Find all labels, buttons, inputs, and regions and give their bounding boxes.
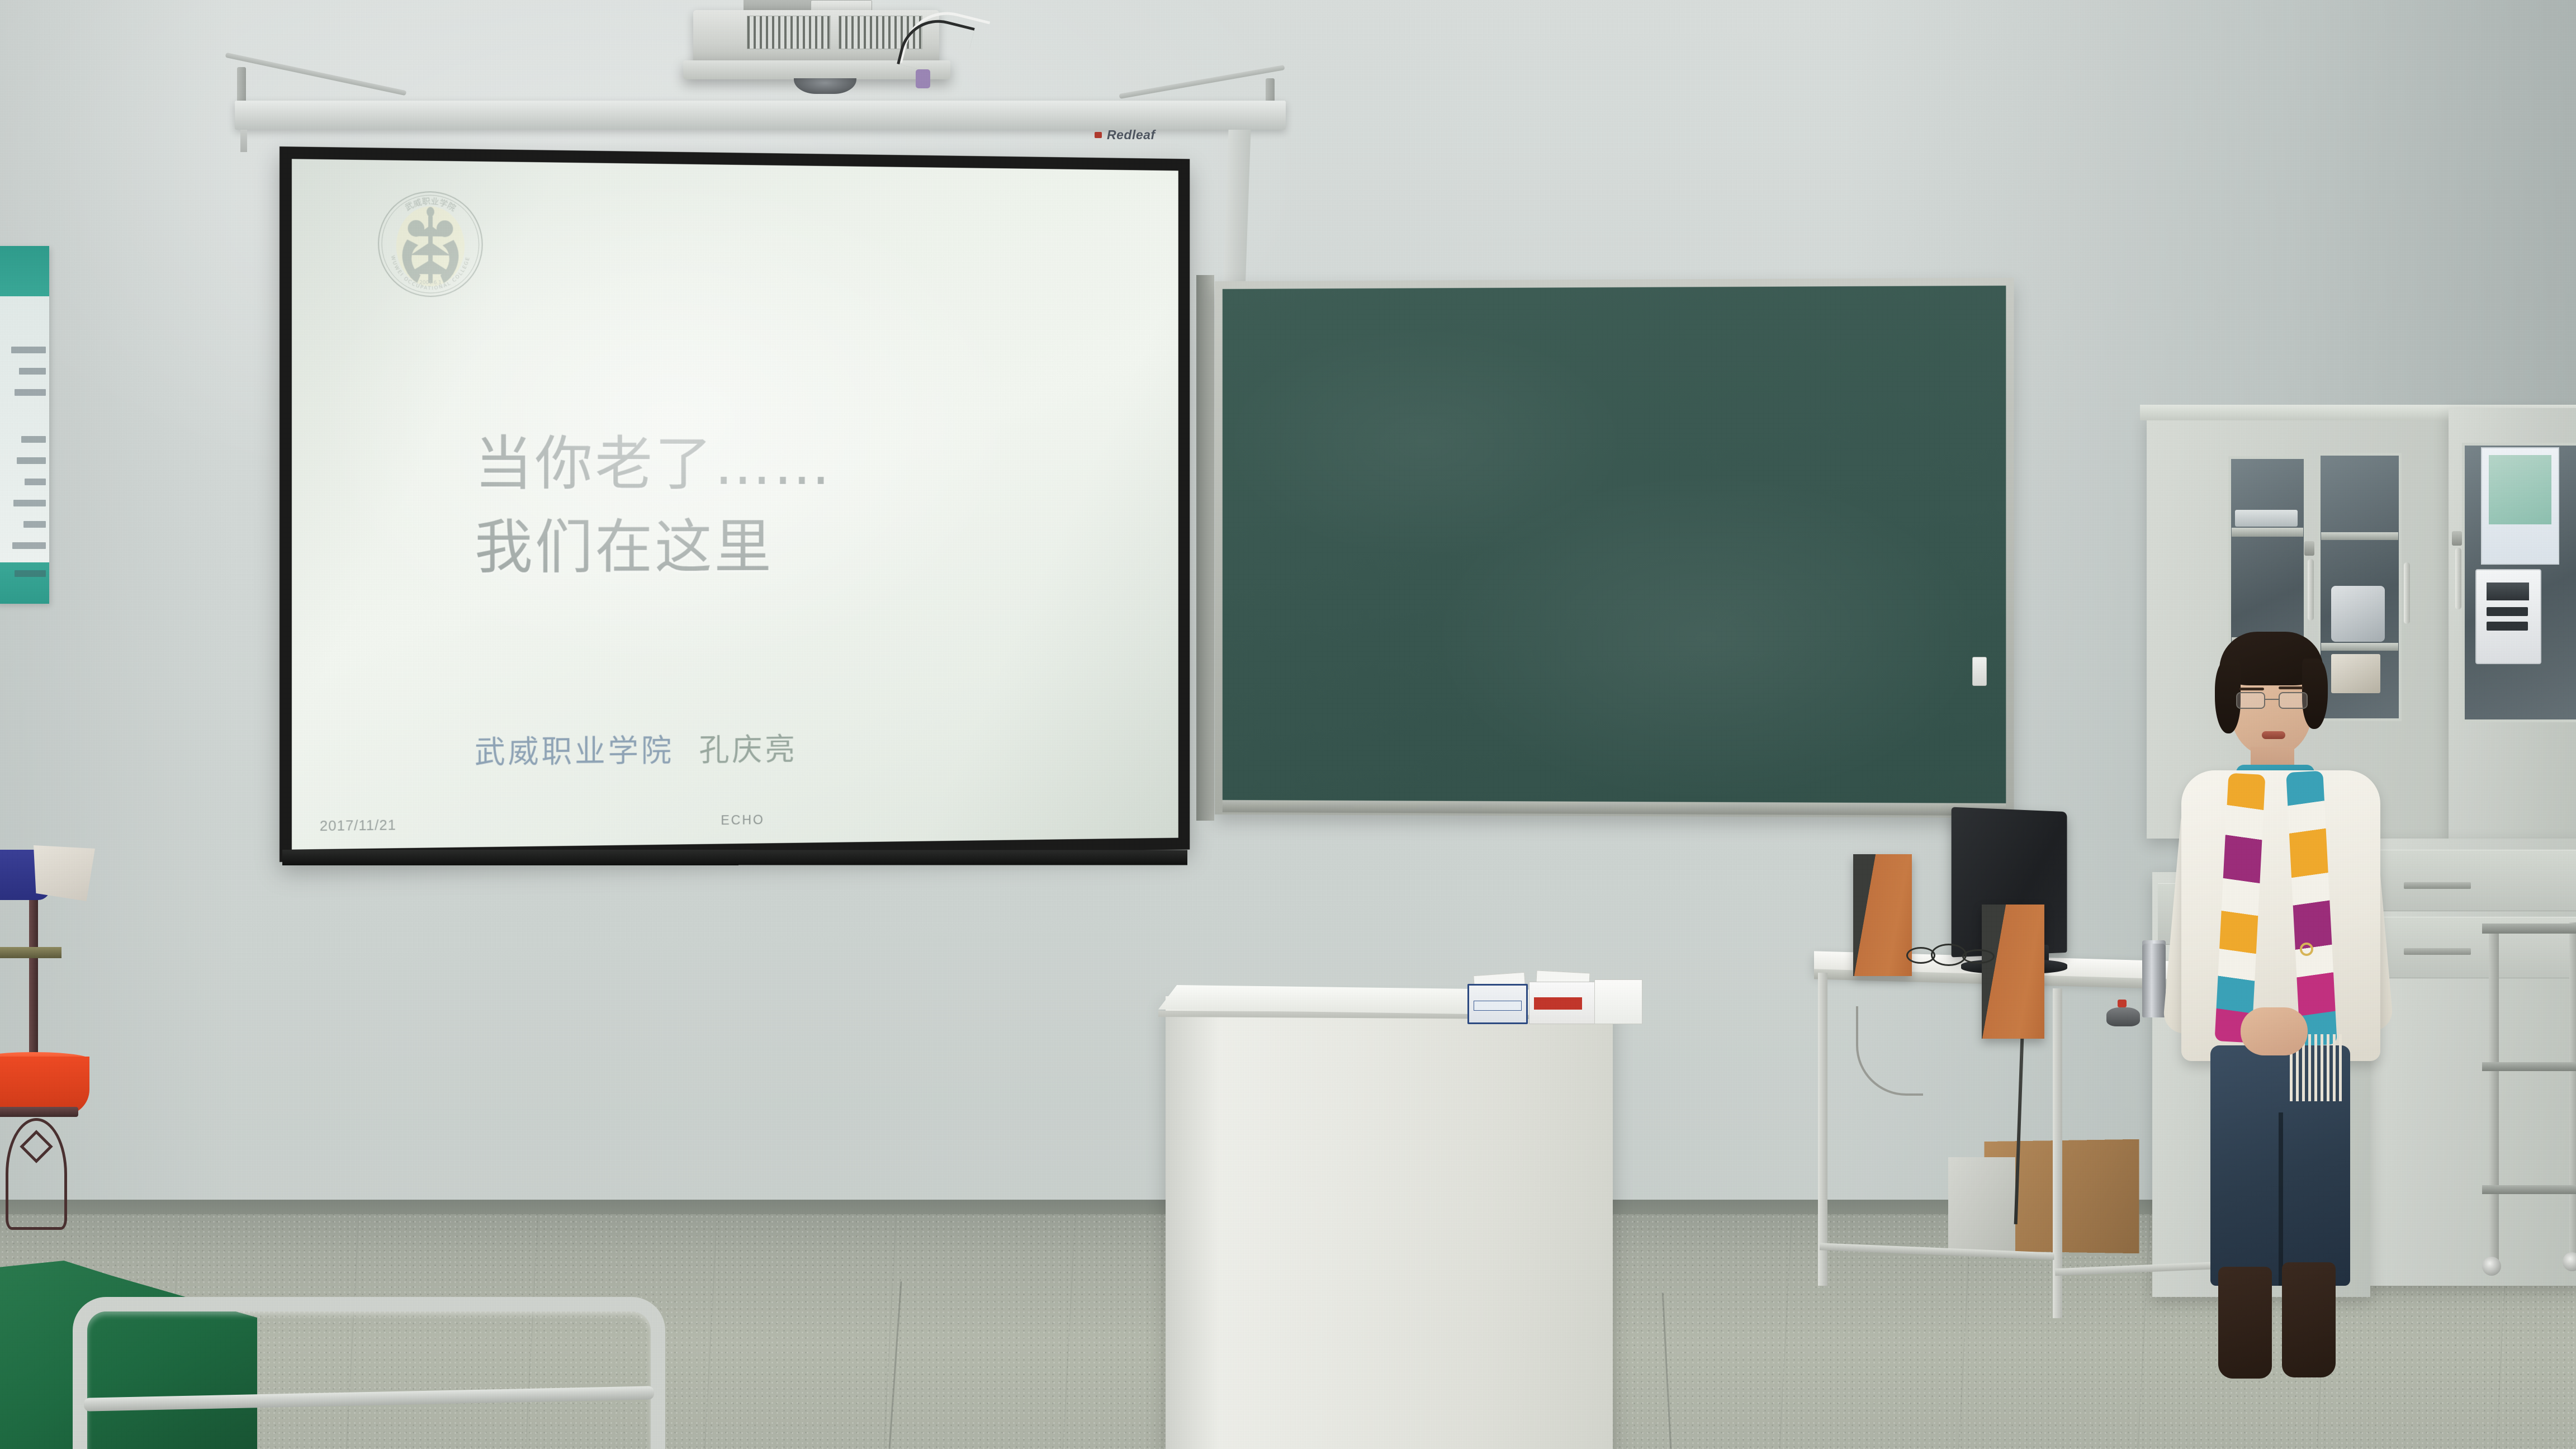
drawer-pull[interactable] <box>2404 948 2471 955</box>
presenter <box>2152 632 2409 1381</box>
poster-bottom-band <box>0 562 49 604</box>
box-red-label <box>1534 997 1582 1010</box>
presenter-eyebrow <box>2239 688 2264 690</box>
device-button <box>2487 622 2528 631</box>
classroom-photo-scene: Redleaf <box>0 0 2576 1449</box>
cable-tangle <box>1901 943 2012 969</box>
trolley-top-shelf <box>2482 924 2576 934</box>
poster-text-line <box>15 389 46 396</box>
drawer-pull[interactable] <box>2404 882 2471 889</box>
chalk-tray <box>1223 800 2006 816</box>
screen-left-drop <box>240 130 247 152</box>
trolley-leg <box>2489 928 2499 1263</box>
cabinet-lock[interactable] <box>2452 531 2462 546</box>
light-switch[interactable] <box>1972 657 1987 686</box>
presenter-boot <box>2282 1262 2336 1377</box>
presenter-hands <box>2241 1007 2308 1055</box>
projector-vent <box>747 16 831 49</box>
poster-text-line <box>11 347 46 353</box>
basin-stand-ring <box>0 1107 78 1117</box>
poster-text-line <box>19 368 46 375</box>
poster-text-line <box>23 521 46 528</box>
trolley-wheel <box>2482 1257 2501 1276</box>
box-label <box>1474 1001 1522 1011</box>
cabinet-handle[interactable] <box>2455 548 2461 609</box>
screen-brand-label: Redleaf <box>1107 127 1156 143</box>
metal-tray <box>2235 510 2298 527</box>
poster-text-line <box>12 542 46 549</box>
cable-loop <box>1931 944 1967 966</box>
poster-text-line <box>21 436 46 443</box>
poster-image <box>2489 455 2551 524</box>
projection-screen-housing <box>235 101 1286 130</box>
presenter-boot <box>2218 1267 2272 1379</box>
lectern-side-shadow <box>1166 1012 1219 1449</box>
cardigan-button <box>2300 943 2313 956</box>
poster-text-line <box>25 479 46 485</box>
table-leg <box>1818 973 1827 1286</box>
cabinet-handle[interactable] <box>2404 562 2410 624</box>
trouser-seam <box>2279 1112 2283 1286</box>
chalkboard-frame <box>1215 278 2014 818</box>
chalkboard-left-edge <box>1196 275 1214 821</box>
trolley-leg <box>2569 922 2576 1258</box>
basin-stand-post <box>29 894 38 1062</box>
cabinet-shelf <box>2321 532 2398 540</box>
mouse-indicator-light <box>2118 1000 2127 1007</box>
hanging-towel <box>34 845 95 901</box>
trolley-mid-shelf <box>2482 1062 2576 1071</box>
poster-top-band <box>0 246 49 296</box>
bed-rail <box>73 1297 665 1449</box>
eyeglass-lens <box>2279 692 2308 709</box>
eyeglass-lens <box>2236 692 2265 709</box>
cabinet-shelf <box>2232 528 2303 537</box>
white-box[interactable] <box>1594 979 1642 1024</box>
eyeglasses-icon <box>2236 692 2308 709</box>
poster-text-line <box>17 457 46 464</box>
cabinet-handle[interactable] <box>2308 559 2314 621</box>
poster-text-line <box>13 500 46 506</box>
screen-bottom-weight-bar <box>282 850 1187 865</box>
basin-stand-shelf <box>0 947 61 958</box>
projection-screen-frame: 2001.6.1 武威职业学院 WUWEI OCCUPATIONAL COLLE… <box>280 146 1190 862</box>
projection-screen-surface: 2001.6.1 武威职业学院 WUWEI OCCUPATIONAL COLLE… <box>292 159 1178 849</box>
presenter-eyebrow <box>2279 686 2303 689</box>
redleaf-logo-dot <box>1095 132 1102 138</box>
wall-chart-poster <box>0 246 49 604</box>
lectern-body <box>1166 996 1613 1449</box>
right-speaker <box>1982 905 2044 1039</box>
eyeglass-bridge <box>2265 699 2279 700</box>
trolley-bottom-shelf <box>2482 1185 2576 1194</box>
cable-loop <box>1962 949 1995 964</box>
screen-vignette <box>292 159 1178 849</box>
white-box-under-table <box>1948 1157 2015 1252</box>
device-button <box>2487 607 2528 616</box>
computer-mouse[interactable] <box>2106 1007 2140 1026</box>
poster-text-line <box>15 570 46 577</box>
cable-plug <box>916 69 930 88</box>
device-screen <box>2487 583 2529 600</box>
chalkboard-surface <box>1223 286 2006 803</box>
presenter-mouth <box>2262 731 2285 739</box>
cabinet-lock[interactable] <box>2304 541 2314 556</box>
